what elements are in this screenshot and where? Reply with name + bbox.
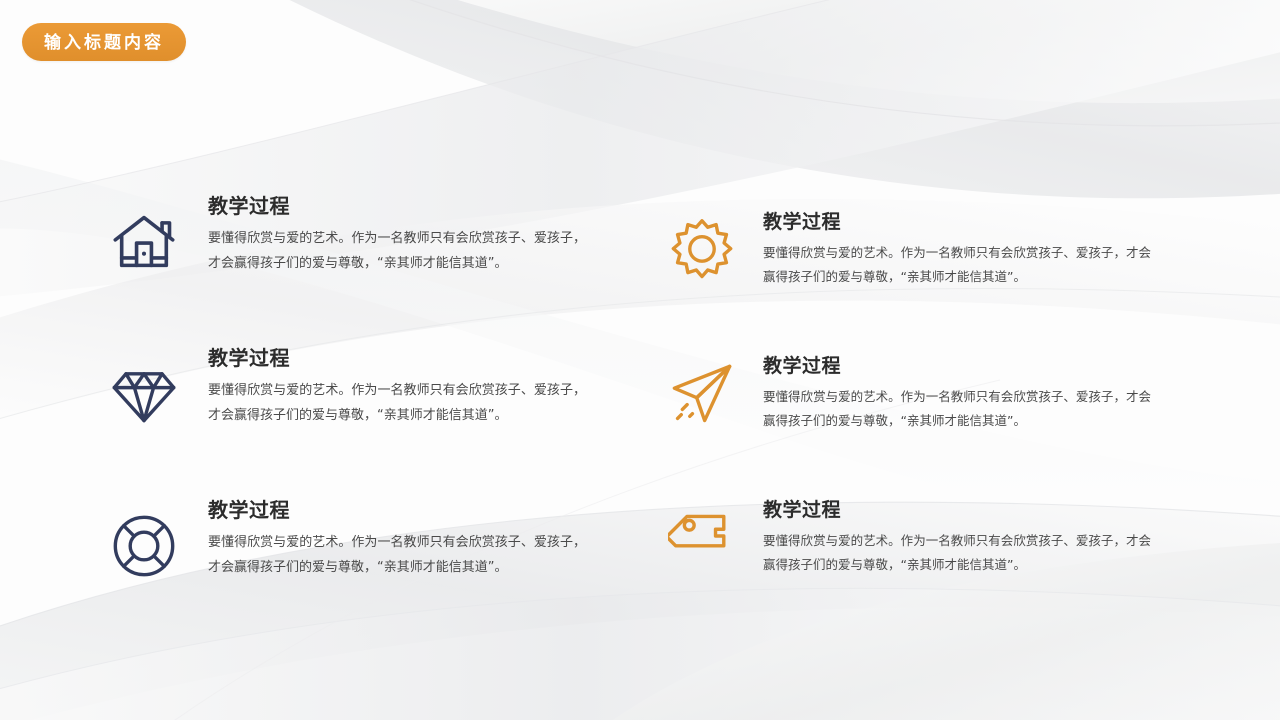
- feature-item-right-1[interactable]: 教学过程 要懂得欣赏与爱的艺术。作为一名教师只有会欣赏孩子、爱孩子，才会赢得孩子…: [668, 212, 1168, 356]
- feature-body: 教学过程 要懂得欣赏与爱的艺术。作为一名教师只有会欣赏孩子、爱孩子，才会赢得孩子…: [763, 356, 1151, 434]
- feature-description: 要懂得欣赏与爱的艺术。作为一名教师只有会欣赏孩子、爱孩子，才会赢得孩子们的爱与尊…: [763, 241, 1151, 290]
- slide-canvas: 输入标题内容 教学过程 要懂得欣赏与爱的艺术。作为一名教师只有会欣赏孩子: [0, 0, 1280, 720]
- house-icon: [110, 208, 178, 276]
- slide-title-badge: 输入标题内容: [22, 23, 186, 61]
- feature-item-right-2[interactable]: 教学过程 要懂得欣赏与爱的艺术。作为一名教师只有会欣赏孩子、爱孩子，才会赢得孩子…: [668, 356, 1168, 500]
- feature-description: 要懂得欣赏与爱的艺术。作为一名教师只有会欣赏孩子、爱孩子，才会赢得孩子们的爱与尊…: [763, 529, 1151, 578]
- feature-body: 教学过程 要懂得欣赏与爱的艺术。作为一名教师只有会欣赏孩子、爱孩子，才会赢得孩子…: [208, 500, 586, 581]
- feature-title: 教学过程: [763, 212, 1151, 234]
- feature-description: 要懂得欣赏与爱的艺术。作为一名教师只有会欣赏孩子、爱孩子，才会赢得孩子们的爱与尊…: [763, 385, 1151, 434]
- feature-item-left-1[interactable]: 教学过程 要懂得欣赏与爱的艺术。作为一名教师只有会欣赏孩子、爱孩子，才会赢得孩子…: [110, 196, 610, 348]
- left-feature-column: 教学过程 要懂得欣赏与爱的艺术。作为一名教师只有会欣赏孩子、爱孩子，才会赢得孩子…: [110, 196, 610, 652]
- feature-item-right-3[interactable]: 教学过程 要懂得欣赏与爱的艺术。作为一名教师只有会欣赏孩子、爱孩子，才会赢得孩子…: [668, 500, 1168, 644]
- feature-title: 教学过程: [208, 196, 586, 219]
- lifebuoy-icon: [110, 512, 178, 580]
- feature-description: 要懂得欣赏与爱的艺术。作为一名教师只有会欣赏孩子、爱孩子，才会赢得孩子们的爱与尊…: [208, 226, 586, 277]
- feature-title: 教学过程: [763, 356, 1151, 378]
- right-feature-column: 教学过程 要懂得欣赏与爱的艺术。作为一名教师只有会欣赏孩子、爱孩子，才会赢得孩子…: [668, 212, 1168, 644]
- diamond-icon: [110, 360, 178, 428]
- feature-description: 要懂得欣赏与爱的艺术。作为一名教师只有会欣赏孩子、爱孩子，才会赢得孩子们的爱与尊…: [208, 378, 586, 429]
- feature-title: 教学过程: [208, 348, 586, 371]
- slide-title-text: 输入标题内容: [44, 34, 164, 51]
- feature-title: 教学过程: [208, 500, 586, 523]
- gear-icon: [668, 216, 736, 284]
- feature-description: 要懂得欣赏与爱的艺术。作为一名教师只有会欣赏孩子、爱孩子，才会赢得孩子们的爱与尊…: [208, 530, 586, 581]
- feature-body: 教学过程 要懂得欣赏与爱的艺术。作为一名教师只有会欣赏孩子、爱孩子，才会赢得孩子…: [763, 212, 1151, 290]
- feature-body: 教学过程 要懂得欣赏与爱的艺术。作为一名教师只有会欣赏孩子、爱孩子，才会赢得孩子…: [763, 500, 1151, 578]
- feature-body: 教学过程 要懂得欣赏与爱的艺术。作为一名教师只有会欣赏孩子、爱孩子，才会赢得孩子…: [208, 348, 586, 429]
- feature-item-left-2[interactable]: 教学过程 要懂得欣赏与爱的艺术。作为一名教师只有会欣赏孩子、爱孩子，才会赢得孩子…: [110, 348, 610, 500]
- key-icon: [668, 504, 736, 572]
- feature-title: 教学过程: [763, 500, 1151, 522]
- feature-item-left-3[interactable]: 教学过程 要懂得欣赏与爱的艺术。作为一名教师只有会欣赏孩子、爱孩子，才会赢得孩子…: [110, 500, 610, 652]
- feature-body: 教学过程 要懂得欣赏与爱的艺术。作为一名教师只有会欣赏孩子、爱孩子，才会赢得孩子…: [208, 196, 586, 277]
- paper-plane-icon: [668, 360, 736, 428]
